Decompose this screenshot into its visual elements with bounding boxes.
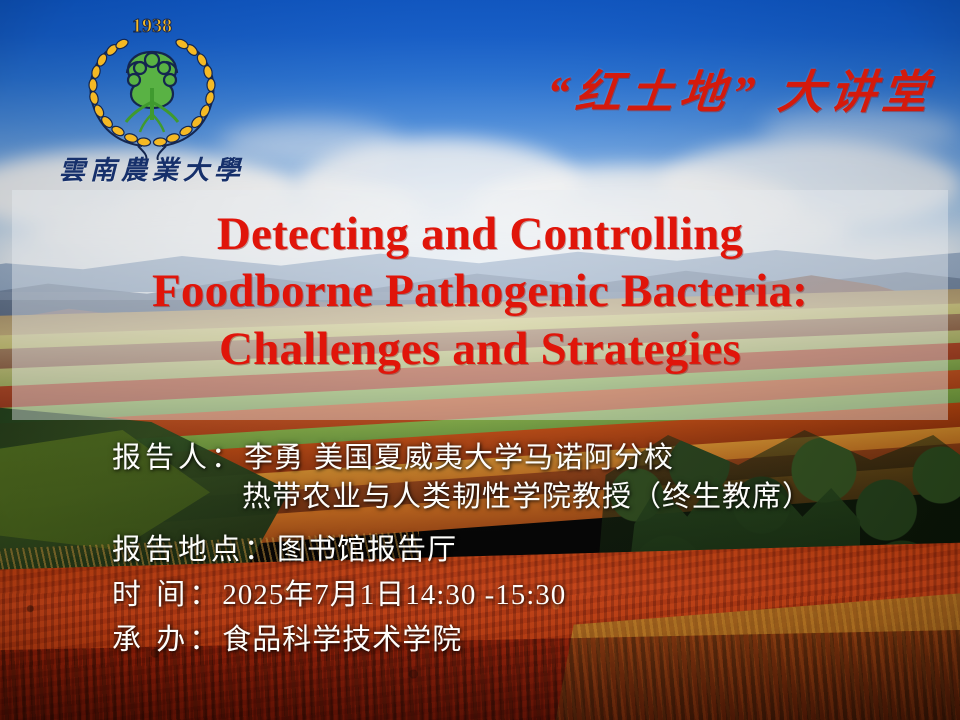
lecture-series-title: “红土地” 大讲堂: [543, 56, 937, 122]
time-value: 2025年7月1日14:30 -15:30: [222, 579, 566, 611]
wheat-wreath-tree-emblem-icon: 1938: [52, 10, 252, 160]
time-row: 时 间：2025年7月1日14:30 -15:30: [112, 581, 952, 610]
speaker-label: 报告人：: [112, 442, 244, 474]
university-logo: 1938: [52, 10, 252, 190]
speaker-row: 报告人：李勇美国夏威夷大学马诺阿分校: [112, 444, 952, 473]
tree-emblem: [126, 52, 178, 132]
host-label: 承 办：: [112, 624, 222, 656]
speaker-name: 李勇: [244, 442, 304, 474]
title-line-2: Foodborne Pathogenic Bacteria:: [0, 263, 960, 320]
logo-year-text: 1938: [132, 15, 172, 37]
page-title: Detecting and Controlling Foodborne Path…: [0, 206, 960, 378]
title-line-1: Detecting and Controlling: [0, 206, 960, 263]
venue-label: 报告地点：: [112, 534, 277, 566]
host-row: 承 办：食品科学技术学院: [112, 626, 952, 655]
host-value: 食品科学技术学院: [222, 624, 462, 656]
speaker-affiliation-line-1: 美国夏威夷大学马诺阿分校: [314, 442, 674, 474]
university-name-zh: 雲南農業大學: [52, 150, 252, 187]
event-details: 报告人：李勇美国夏威夷大学马诺阿分校 热带农业与人类韧性学院教授（终生教席） 报…: [112, 444, 952, 671]
time-label: 时 间：: [112, 579, 222, 611]
speaker-affiliation-row: 热带农业与人类韧性学院教授（终生教席）: [112, 483, 952, 512]
venue-value: 图书馆报告厅: [277, 534, 457, 566]
lecture-poster: 1938: [0, 0, 960, 720]
venue-row: 报告地点：图书馆报告厅: [112, 536, 952, 565]
title-line-3: Challenges and Strategies: [0, 321, 960, 378]
speaker-affiliation-line-2: 热带农业与人类韧性学院教授（终生教席）: [242, 481, 812, 513]
